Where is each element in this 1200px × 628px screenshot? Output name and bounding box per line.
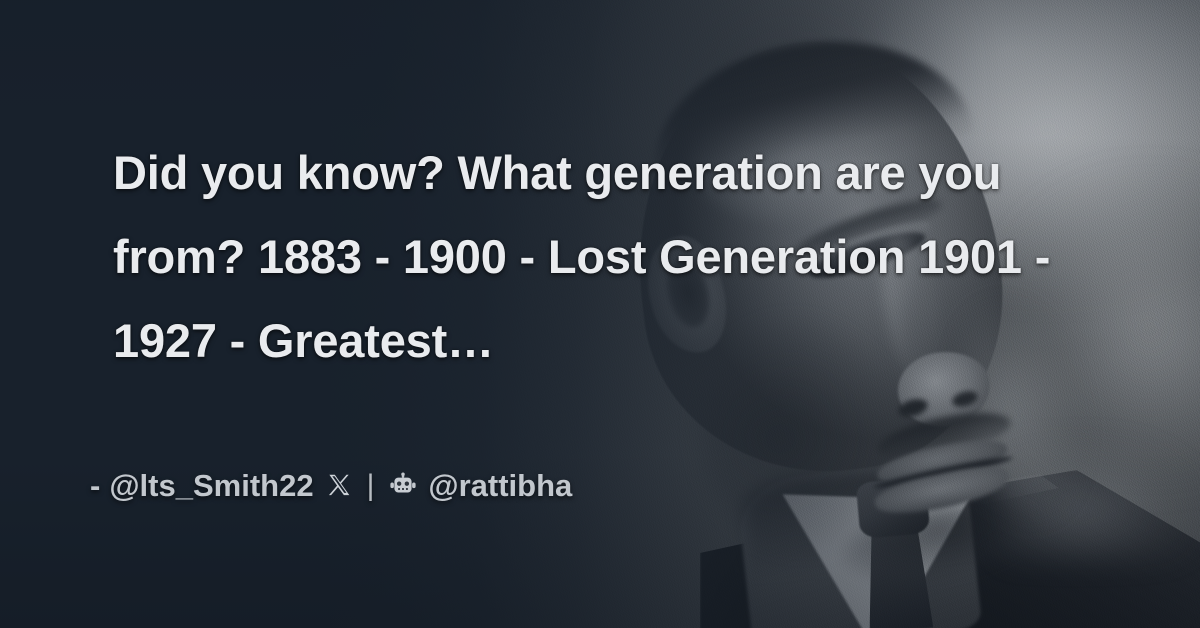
card-content: Did you know? What generation are you fr…	[0, 0, 1200, 628]
robot-icon	[389, 472, 417, 500]
service-handle[interactable]: @rattibha	[428, 468, 572, 504]
attribution-separator: |	[367, 469, 375, 503]
headline-text: Did you know? What generation are you fr…	[113, 131, 1098, 383]
x-logo-icon[interactable]	[327, 473, 353, 499]
share-preview-card: Did you know? What generation are you fr…	[0, 0, 1200, 628]
attribution-line: - @lts_Smith22 |	[90, 468, 572, 504]
author-handle[interactable]: @lts_Smith22	[109, 468, 313, 504]
attribution-dash: -	[90, 468, 100, 504]
